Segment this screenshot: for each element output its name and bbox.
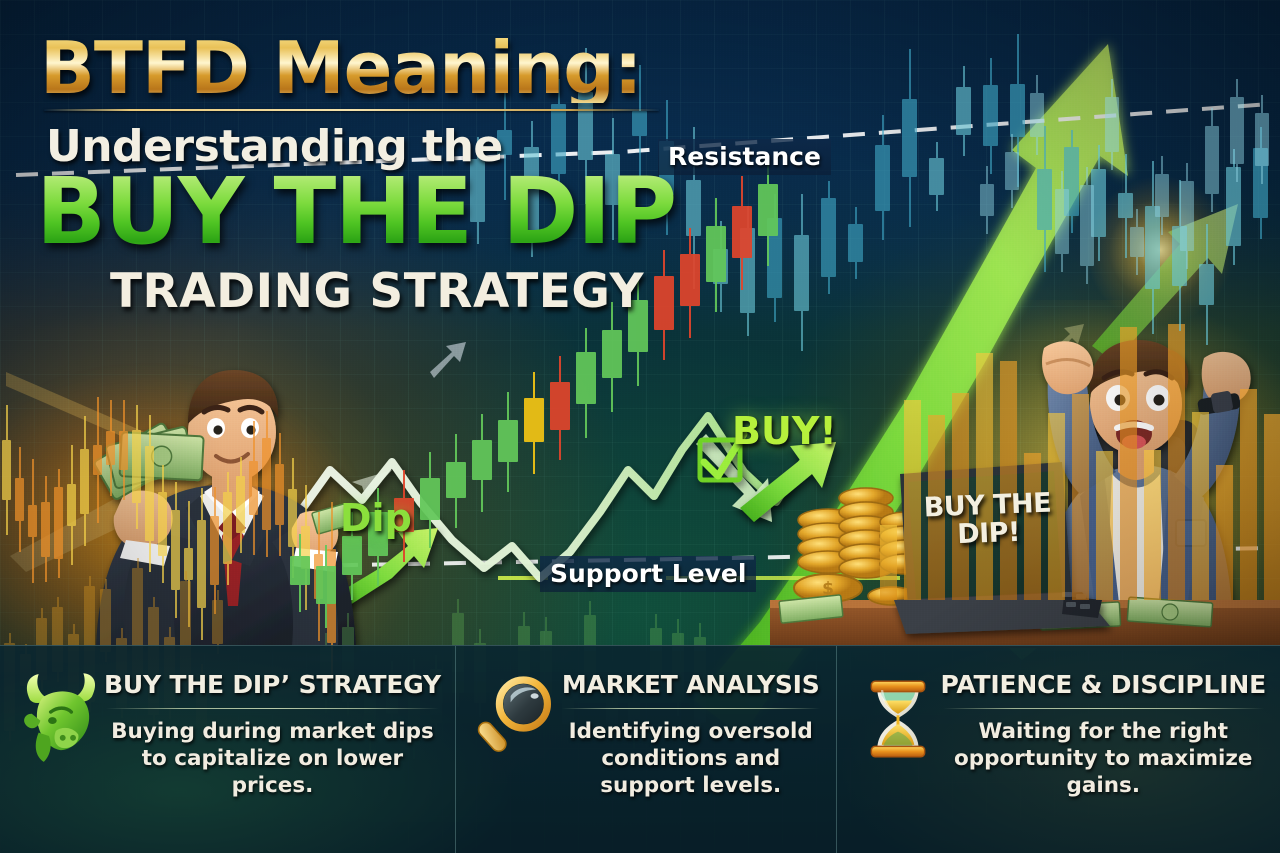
page-title-eyebrow: BTFD Meaning:	[40, 34, 700, 103]
candlestick	[550, 356, 570, 460]
infographic-canvas: $ $ BUY T	[0, 0, 1280, 853]
candlestick	[706, 198, 726, 312]
bull-head-icon	[18, 668, 104, 764]
candlestick	[732, 176, 752, 290]
feature-desc-patience: Waiting for the right opportunity to max…	[941, 718, 1267, 799]
feature-panel-patience-body: PATIENCE & DISCIPLINE Waiting for the ri…	[941, 668, 1267, 799]
page-headline: BUY THE DIP	[36, 166, 700, 258]
feature-title-strategy: BUY THE DIP’ STRATEGY	[104, 670, 441, 699]
candlestick	[498, 392, 518, 492]
title-block: BTFD Meaning: Understanding the BUY THE …	[40, 34, 700, 319]
feature-panel-market-analysis-body: MARKET ANALYSIS Identifying oversold con…	[560, 668, 822, 799]
laptop-screen-message: BUY THE DIP!	[917, 489, 1059, 549]
feature-desc-strategy-line-2: to capitalize on lower prices.	[104, 745, 441, 799]
magnifying-glass-icon	[474, 668, 560, 764]
dip-label: Dip	[340, 496, 412, 540]
feature-desc-strategy-line-1: Buying during market dips	[104, 718, 441, 745]
feature-desc-strategy: Buying during market dips to capitalize …	[104, 718, 441, 799]
candlestick	[316, 545, 336, 628]
candlestick	[524, 372, 544, 474]
feature-desc-market-analysis: Identifying oversold conditions and supp…	[560, 718, 822, 799]
candlestick	[290, 534, 310, 612]
page-tagline: TRADING STRATEGY	[110, 264, 700, 319]
candlestick	[446, 434, 466, 528]
hourglass-icon	[855, 668, 941, 764]
feature-panel-patience[interactable]: PATIENCE & DISCIPLINE Waiting for the ri…	[836, 646, 1280, 853]
feature-panel-strategy-body: BUY THE DIP’ STRATEGY Buying during mark…	[104, 668, 441, 799]
feature-divider-strategy	[106, 708, 439, 709]
feature-divider-patience	[943, 708, 1265, 709]
feature-panel-strategy[interactable]: BUY THE DIP’ STRATEGY Buying during mark…	[0, 646, 455, 853]
feature-desc-market-analysis-line-1: Identifying oversold	[560, 718, 822, 745]
support-level-label: Support Level	[540, 556, 756, 592]
feature-panel-strip: BUY THE DIP’ STRATEGY Buying during mark…	[0, 645, 1280, 853]
feature-title-market-analysis: MARKET ANALYSIS	[560, 670, 822, 699]
feature-desc-market-analysis-line-2: conditions and support levels.	[560, 745, 822, 799]
candlestick	[420, 452, 440, 548]
feature-title-patience: PATIENCE & DISCIPLINE	[941, 670, 1267, 699]
feature-desc-patience-line-2: opportunity to maximize gains.	[941, 745, 1267, 799]
resistance-label: Resistance	[658, 139, 831, 175]
candlestick	[472, 414, 492, 512]
feature-desc-patience-line-1: Waiting for the right	[941, 718, 1267, 745]
feature-divider-market-analysis	[562, 708, 820, 709]
feature-panel-market-analysis[interactable]: MARKET ANALYSIS Identifying oversold con…	[455, 646, 836, 853]
buy-label: BUY!	[732, 409, 837, 453]
candlestick	[576, 328, 596, 438]
